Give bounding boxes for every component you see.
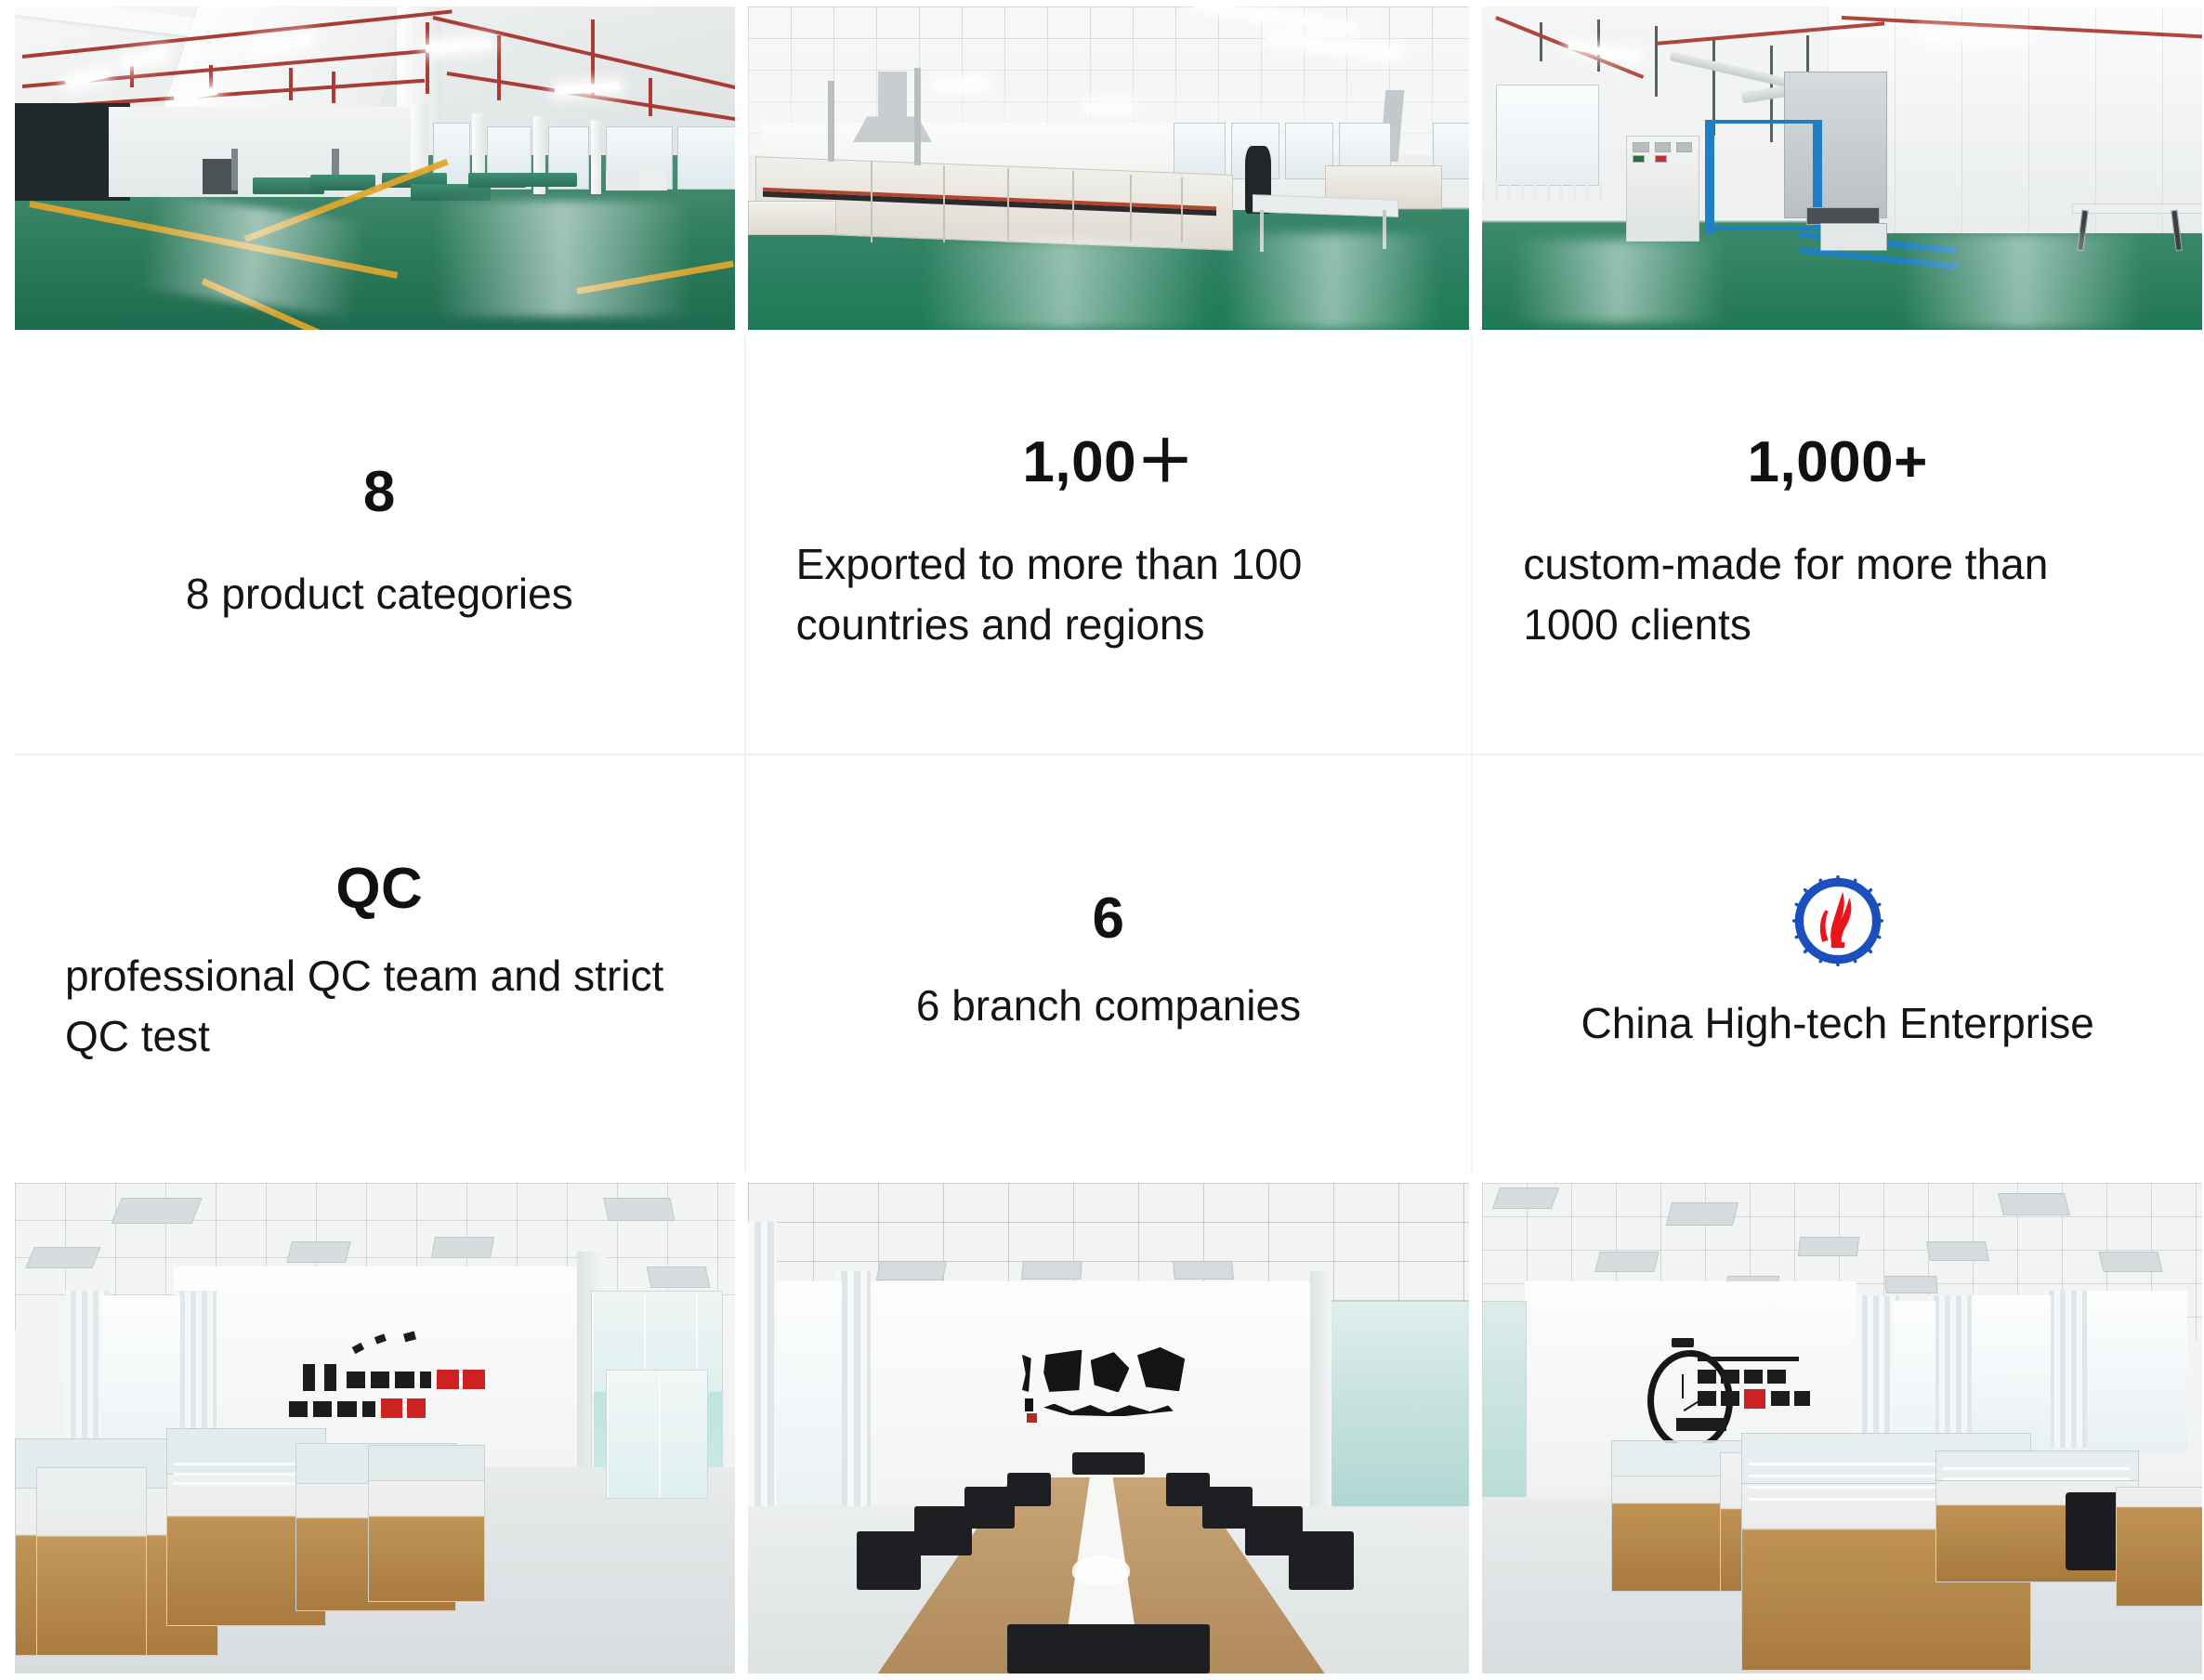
stat-value: QC [335, 860, 423, 918]
stat-cell-high-tech-certificate: China High-tech Enterprise [1473, 754, 2202, 1172]
stat-cell-product-categories: 8 8 product categories [15, 335, 744, 754]
photo-coating-machine-room[interactable] [1482, 7, 2202, 330]
photo-open-office-clock[interactable] [1482, 1183, 2202, 1673]
stat-value: 1,000+ [1747, 434, 1927, 492]
stats-grid: 8 8 product categories 1,00＋ Exported to… [15, 335, 2202, 1172]
stat-value: 6 [1093, 890, 1125, 948]
stat-cell-qc-team: QC professional QC team and strict QC te… [15, 754, 744, 1172]
stat-description: 6 branch companies [916, 976, 1301, 1036]
stat-cell-countries-exported: 1,00＋ Exported to more than 100 countrie… [744, 335, 1474, 754]
stat-description: custom-made for more than 1000 clients [1523, 534, 2152, 656]
photo-production-workshop[interactable] [15, 7, 735, 330]
stat-description: China High-tech Enterprise [1581, 993, 2094, 1054]
stat-description: professional QC team and strict QC test [65, 946, 694, 1068]
stat-value: 1,00＋ [1022, 434, 1194, 492]
china-high-tech-enterprise-logo [1790, 873, 1886, 969]
photo-office-team-slogan[interactable] [15, 1183, 735, 1673]
stat-value: 8 [363, 464, 396, 521]
stat-description: Exported to more than 100 countries and … [796, 534, 1422, 656]
photo-reflow-oven-line[interactable] [748, 7, 1468, 330]
office-photo-row [15, 1183, 2202, 1673]
company-profile-page: 8 8 product categories 1,00＋ Exported to… [0, 0, 2204, 1680]
factory-photo-row [15, 7, 2202, 330]
stat-cell-custom-clients: 1,000+ custom-made for more than 1000 cl… [1473, 335, 2202, 754]
photo-meeting-room[interactable] [748, 1183, 1468, 1673]
stat-cell-branch-companies: 6 6 branch companies [744, 754, 1474, 1172]
stat-description: 8 product categories [186, 564, 573, 624]
certificate-logo-wrap [1790, 873, 1886, 969]
